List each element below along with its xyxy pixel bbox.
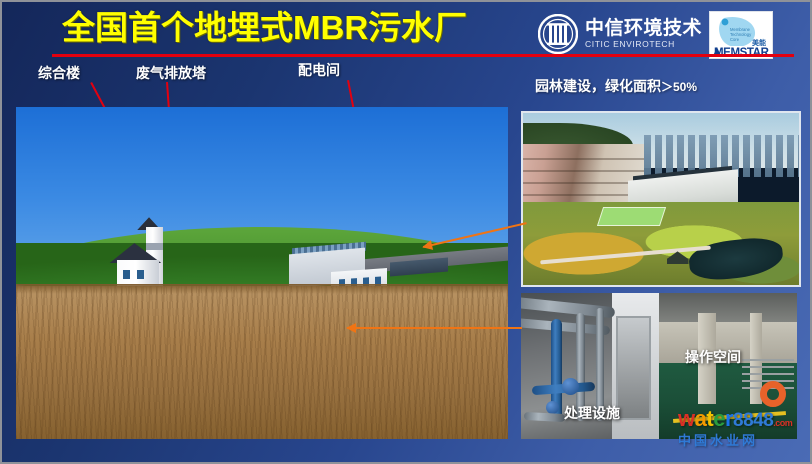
watermark-subtitle: 中国水业网 <box>678 434 806 447</box>
watermark-w: w <box>678 406 695 431</box>
header-divider <box>52 54 794 57</box>
callout-label-exhaust-tower: 废气排放塔 <box>136 63 206 83</box>
citic-name-en: CITIC ENVIROTECH <box>585 40 702 49</box>
citic-name-cn: 中信环境技术 <box>585 19 702 38</box>
watermark-number: 8848 <box>733 410 773 431</box>
watermark-e: e <box>713 406 725 431</box>
page-title: 全国首个地埋式MBR污水厂 <box>62 6 482 50</box>
watermark-domain: .com <box>773 418 792 428</box>
main-plant-render <box>16 107 508 439</box>
render-tower-band <box>146 243 163 250</box>
render-soil-section <box>16 286 508 439</box>
equipment-photo-label: 处理设施 <box>564 403 620 423</box>
orange-arrow-to-underground <box>347 327 522 329</box>
aerial-landscape-photo <box>521 111 801 287</box>
watermark-a: a <box>695 406 707 431</box>
watermark-r: r <box>725 406 733 431</box>
citic-roundel-icon <box>538 14 578 54</box>
treatment-equipment-photo: 处理设施 <box>521 293 659 439</box>
green-note-text: 园林建设，绿化面积 <box>535 78 661 94</box>
callout-label-power-room: 配电间 <box>298 60 340 80</box>
operation-photo-label: 操作空间 <box>685 347 741 367</box>
citic-text-block: 中信环境技术 CITIC ENVIROTECH <box>585 19 702 49</box>
site-watermark: water8848.com 中国水业网 <box>678 408 806 456</box>
watermark-wordmark: water8848.com <box>678 408 806 430</box>
callout-label-comprehensive-building: 综合楼 <box>38 63 80 83</box>
green-note-value: ＞50% <box>661 80 697 94</box>
memstar-logo: Membrane Technology Core 美能 MEMSTAR <box>709 11 773 59</box>
svg-text:Core: Core <box>730 37 740 42</box>
memstar-logo-graphic: Membrane Technology Core 美能 MEMSTAR <box>710 12 772 58</box>
presentation-slide: 全国首个地埋式MBR污水厂 中信环境技术 CITIC ENVIROTECH Me… <box>0 0 812 464</box>
citic-brand-logo: 中信环境技术 CITIC ENVIROTECH <box>538 10 718 58</box>
green-coverage-note: 园林建设，绿化面积＞50% <box>535 76 697 96</box>
svg-text:美能: 美能 <box>752 38 766 47</box>
